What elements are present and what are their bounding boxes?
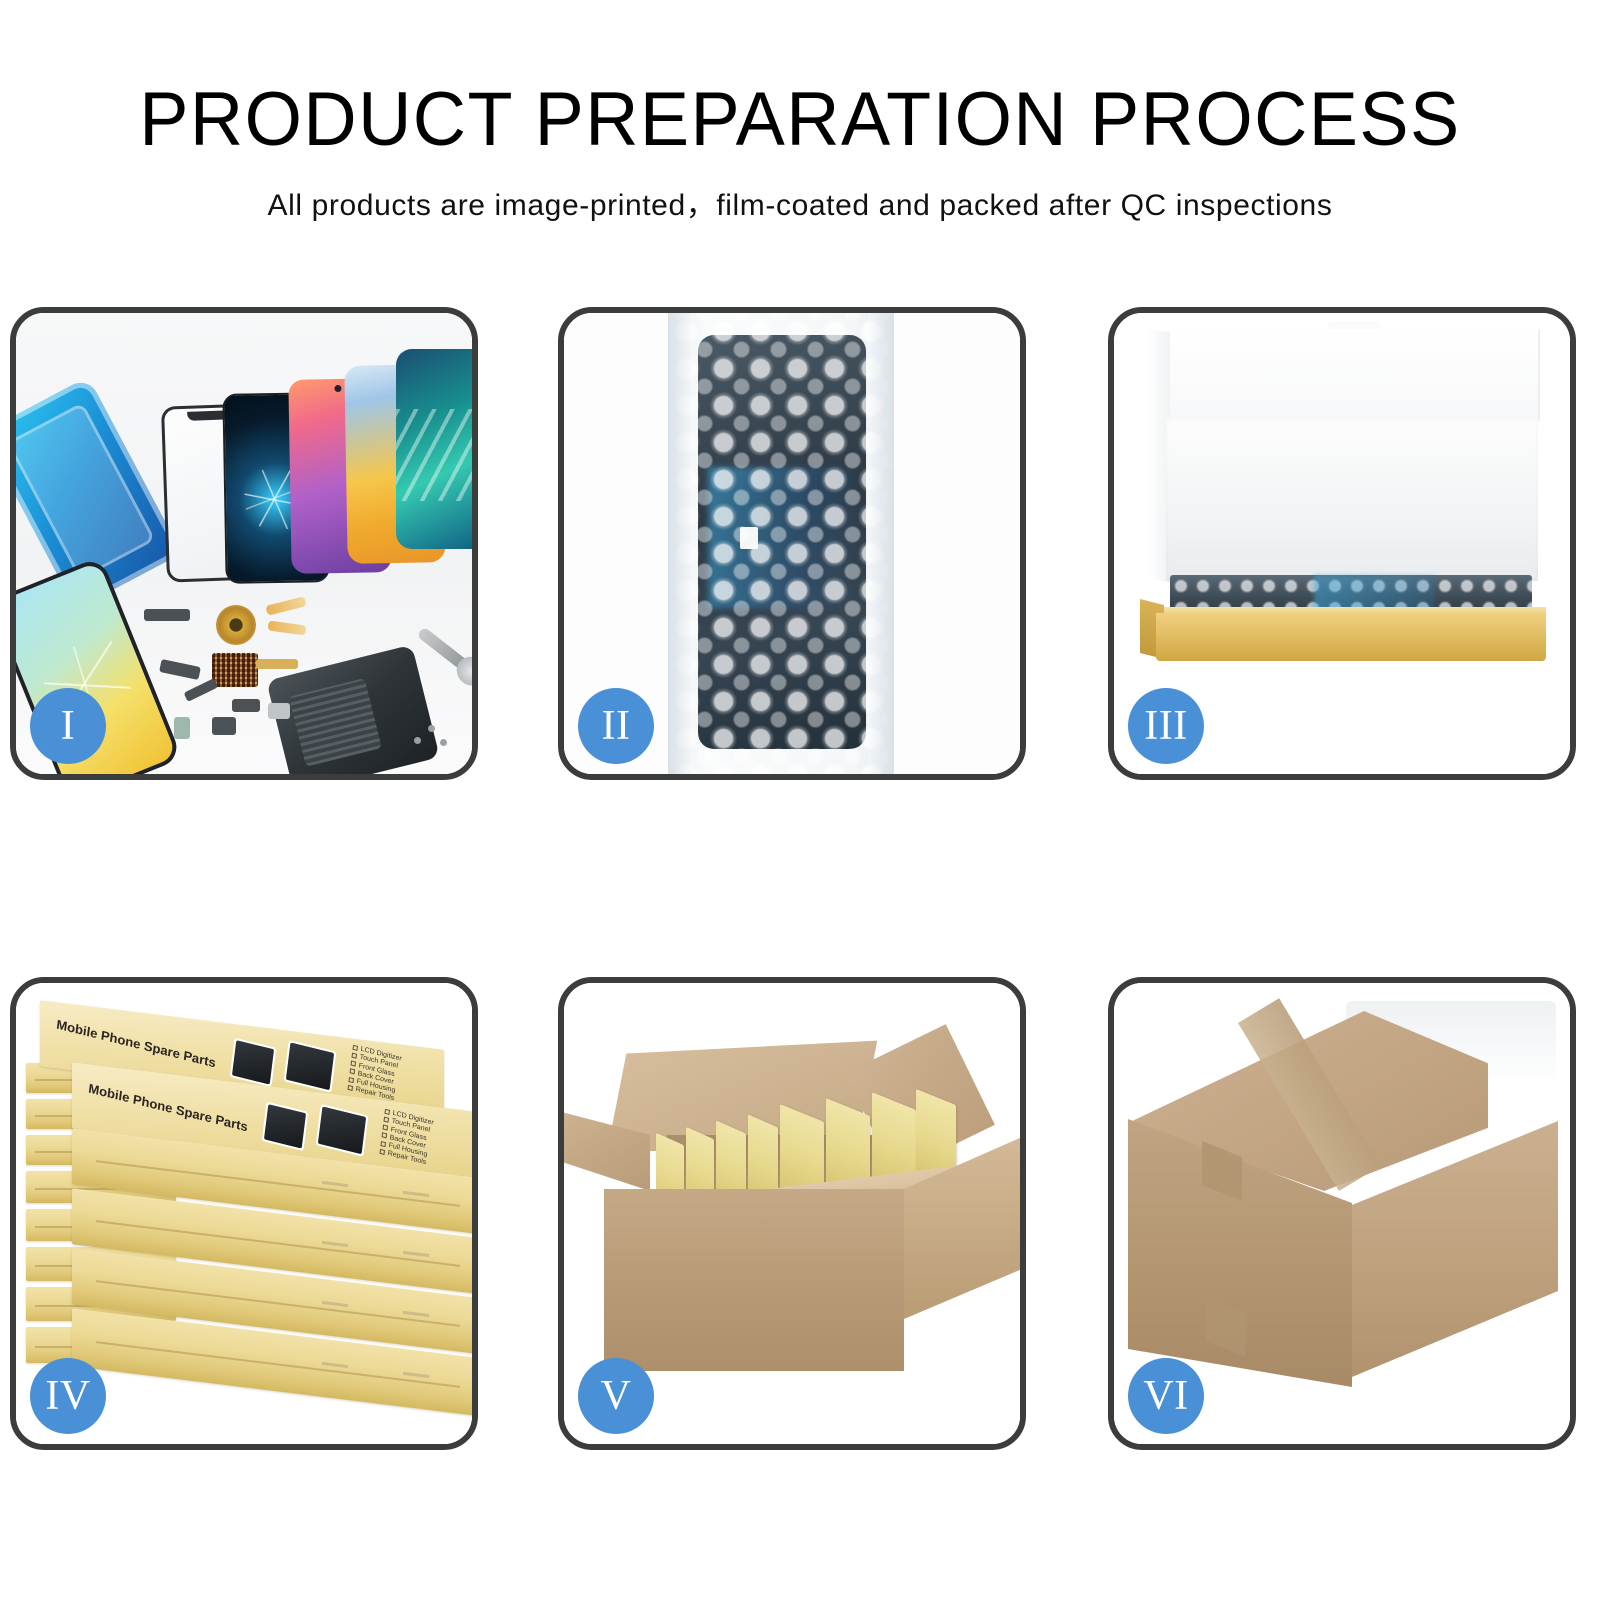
small-connector-icon (184, 678, 219, 702)
cleaning-brush-icon (416, 626, 469, 671)
flex-cable-icon (256, 659, 298, 669)
teal-display-icon (396, 349, 472, 549)
header: PRODUCT PREPARATION PROCESS All products… (0, 0, 1600, 224)
box-lcd-thumbnail (284, 1040, 337, 1093)
page-title: PRODUCT PREPARATION PROCESS (24, 82, 1576, 158)
infographic-root: PRODUCT PREPARATION PROCESS All products… (0, 0, 1600, 1600)
wrap-edge-right (868, 313, 894, 774)
box-brand-label: Mobile Phone Spare Parts (88, 1081, 249, 1135)
box-lcd-thumbnail (316, 1104, 369, 1157)
small-connector-icon (159, 659, 201, 680)
page-subtitle: All products are image-printed，film-coat… (0, 180, 1600, 224)
screw-icon (428, 725, 435, 732)
vibration-motor-icon (268, 703, 290, 719)
process-step-6[interactable]: VI (1108, 977, 1576, 1450)
box-checklist: LCD Digitizer Touch Panel Front Glass Ba… (347, 1044, 402, 1104)
camera-module-icon (212, 717, 236, 735)
step-badge-6: VI (1128, 1358, 1204, 1434)
process-step-5[interactable]: V (558, 977, 1026, 1450)
screw-icon (440, 739, 447, 746)
wrap-edge-left (668, 313, 694, 774)
step-badge-1: I (30, 688, 106, 764)
flex-cable-icon (267, 620, 306, 635)
earpiece-mesh-icon (144, 609, 190, 621)
bubble-pattern-back (668, 313, 894, 774)
box-checklist: LCD Digitizer Touch Panel Front Glass Ba… (379, 1108, 434, 1168)
box-stack: Mobile Phone Spare Parts LCD Digitizer T… (22, 1019, 472, 1419)
carton-front-panel (604, 1189, 904, 1371)
process-step-3[interactable]: III (1108, 307, 1576, 780)
process-step-1[interactable]: I (10, 307, 478, 780)
process-step-4[interactable]: Mobile Phone Spare Parts LCD Digitizer T… (10, 977, 478, 1450)
box-lid-top (1148, 329, 1540, 421)
step-badge-5: V (578, 1358, 654, 1434)
logic-board-chip-icon (212, 653, 258, 687)
wireless-charging-coil-icon (216, 605, 256, 645)
sim-tray-icon (174, 717, 190, 739)
step-badge-3: III (1128, 688, 1204, 764)
box-lcd-thumbnail (262, 1102, 309, 1151)
process-step-2[interactable]: II (558, 307, 1026, 780)
gold-box-front (1156, 613, 1546, 661)
box-lid-inner-face (1166, 417, 1538, 581)
flex-cable-icon (265, 596, 306, 615)
process-step-grid: I II (10, 307, 1588, 1452)
box-lcd-thumbnail (230, 1038, 277, 1087)
step-badge-2: II (578, 688, 654, 764)
ic-component-icon (232, 699, 260, 712)
step-badge-4: IV (30, 1358, 106, 1434)
screw-icon (414, 737, 421, 744)
